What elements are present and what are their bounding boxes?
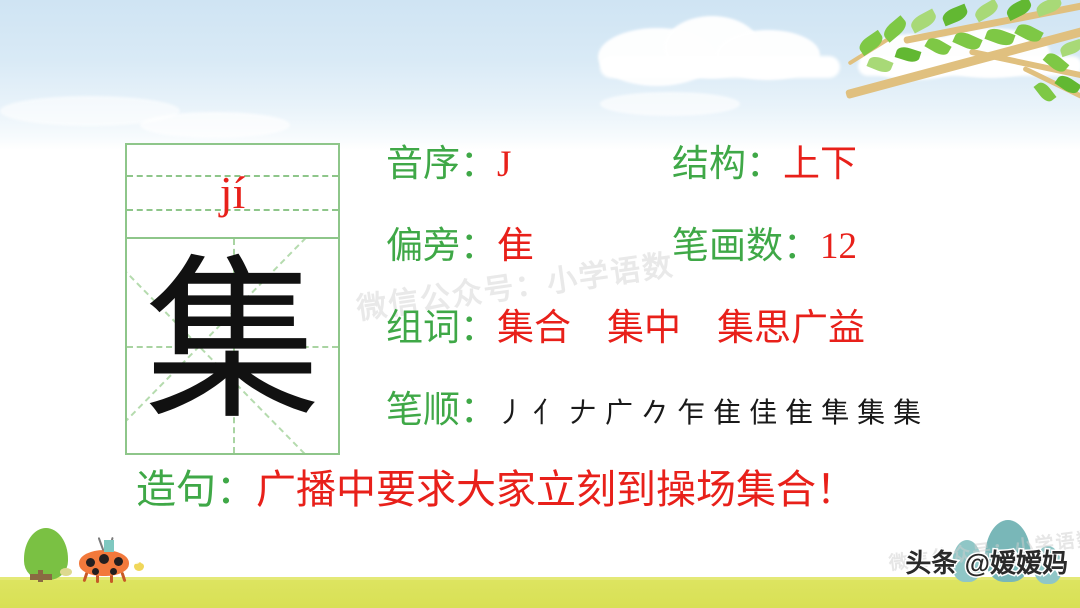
ladybug-spot-icon — [86, 558, 95, 567]
stroke-step-9: 隹 — [785, 400, 813, 428]
example-sentence-row: 造句： 广播中要求大家立刻到操场集合！ — [136, 470, 856, 510]
cloud-icon — [600, 56, 840, 78]
slide-canvas: 微信公众号：小学语数 jí 集 音序： J 结构： 上下 偏旁： 隹 — [0, 0, 1080, 608]
mi-grid-box: 集 — [125, 239, 340, 455]
leafy-branch-decoration — [850, 0, 1080, 140]
stroke-step-5: 𠂊 — [641, 400, 669, 428]
bee-wing-icon — [132, 558, 140, 564]
zuci-word-2: 集中 — [607, 310, 681, 347]
bishun-label: 笔顺： — [386, 392, 497, 429]
bee-wing-icon — [140, 558, 148, 564]
stroke-order-sequence: 丿亻𠂇广𠂊乍隹佳隹隼集集 — [497, 400, 921, 428]
stroke-step-12: 集 — [893, 400, 921, 428]
zaoju-value: 广播中要求大家立刻到操场集合！ — [256, 470, 856, 510]
pianpang-value: 隹 — [497, 228, 534, 265]
cloud-icon — [600, 92, 740, 116]
field-row-bihuashu: 笔画数： 12 — [672, 228, 857, 265]
yinxu-label: 音序： — [386, 146, 497, 183]
stroke-step-11: 集 — [857, 400, 885, 428]
zuci-label: 组词： — [386, 310, 497, 347]
zuci-word-1: 集合 — [497, 310, 571, 347]
pianpang-label: 偏旁： — [386, 228, 497, 265]
author-badge: 头条 @嫒嫒妈 — [905, 543, 1068, 580]
ladybug-spot-icon — [92, 568, 99, 575]
field-row-zuci: 组词： 集合集中集思广益 — [386, 310, 865, 347]
field-row-jiegou: 结构： 上下 — [672, 146, 857, 183]
stroke-step-7: 隹 — [713, 400, 741, 428]
target-character: 集 — [127, 239, 338, 453]
jiegou-label: 结构： — [672, 146, 783, 183]
small-bug-icon — [60, 568, 72, 576]
zuci-word-3: 集思广益 — [717, 310, 865, 347]
stroke-step-2: 亻 — [533, 400, 561, 428]
stroke-step-6: 乍 — [677, 400, 705, 428]
stroke-step-1: 丿 — [497, 400, 525, 428]
bihuashu-label: 笔画数： — [672, 228, 820, 265]
ladybug-flag-icon — [104, 540, 114, 552]
stroke-step-3: 𠂇 — [569, 400, 597, 428]
character-practice-grid: jí 集 — [125, 143, 340, 455]
ladybug-spot-icon — [110, 568, 117, 575]
pinyin-text: jí — [127, 153, 338, 233]
zaoju-label: 造句： — [136, 470, 256, 510]
jiegou-value: 上下 — [783, 146, 857, 183]
bihuashu-value: 12 — [820, 228, 857, 265]
stroke-step-10: 隼 — [821, 400, 849, 428]
grass-strip — [0, 580, 1080, 608]
zuci-word-list: 集合集中集思广益 — [497, 310, 865, 347]
pinyin-four-line-box: jí — [125, 143, 340, 239]
tree-trunk-icon — [30, 574, 52, 580]
stroke-step-4: 广 — [605, 400, 633, 428]
field-row-bishun: 笔顺： 丿亻𠂇广𠂊乍隹佳隹隼集集 — [386, 392, 921, 429]
field-row-yinxu: 音序： J — [386, 146, 511, 183]
yinxu-value: J — [497, 146, 511, 183]
stroke-step-8: 佳 — [749, 400, 777, 428]
cloud-icon — [0, 96, 180, 126]
field-row-pianpang: 偏旁： 隹 — [386, 228, 534, 265]
ladybug-spot-icon — [99, 554, 109, 564]
ladybug-spot-icon — [114, 557, 123, 566]
